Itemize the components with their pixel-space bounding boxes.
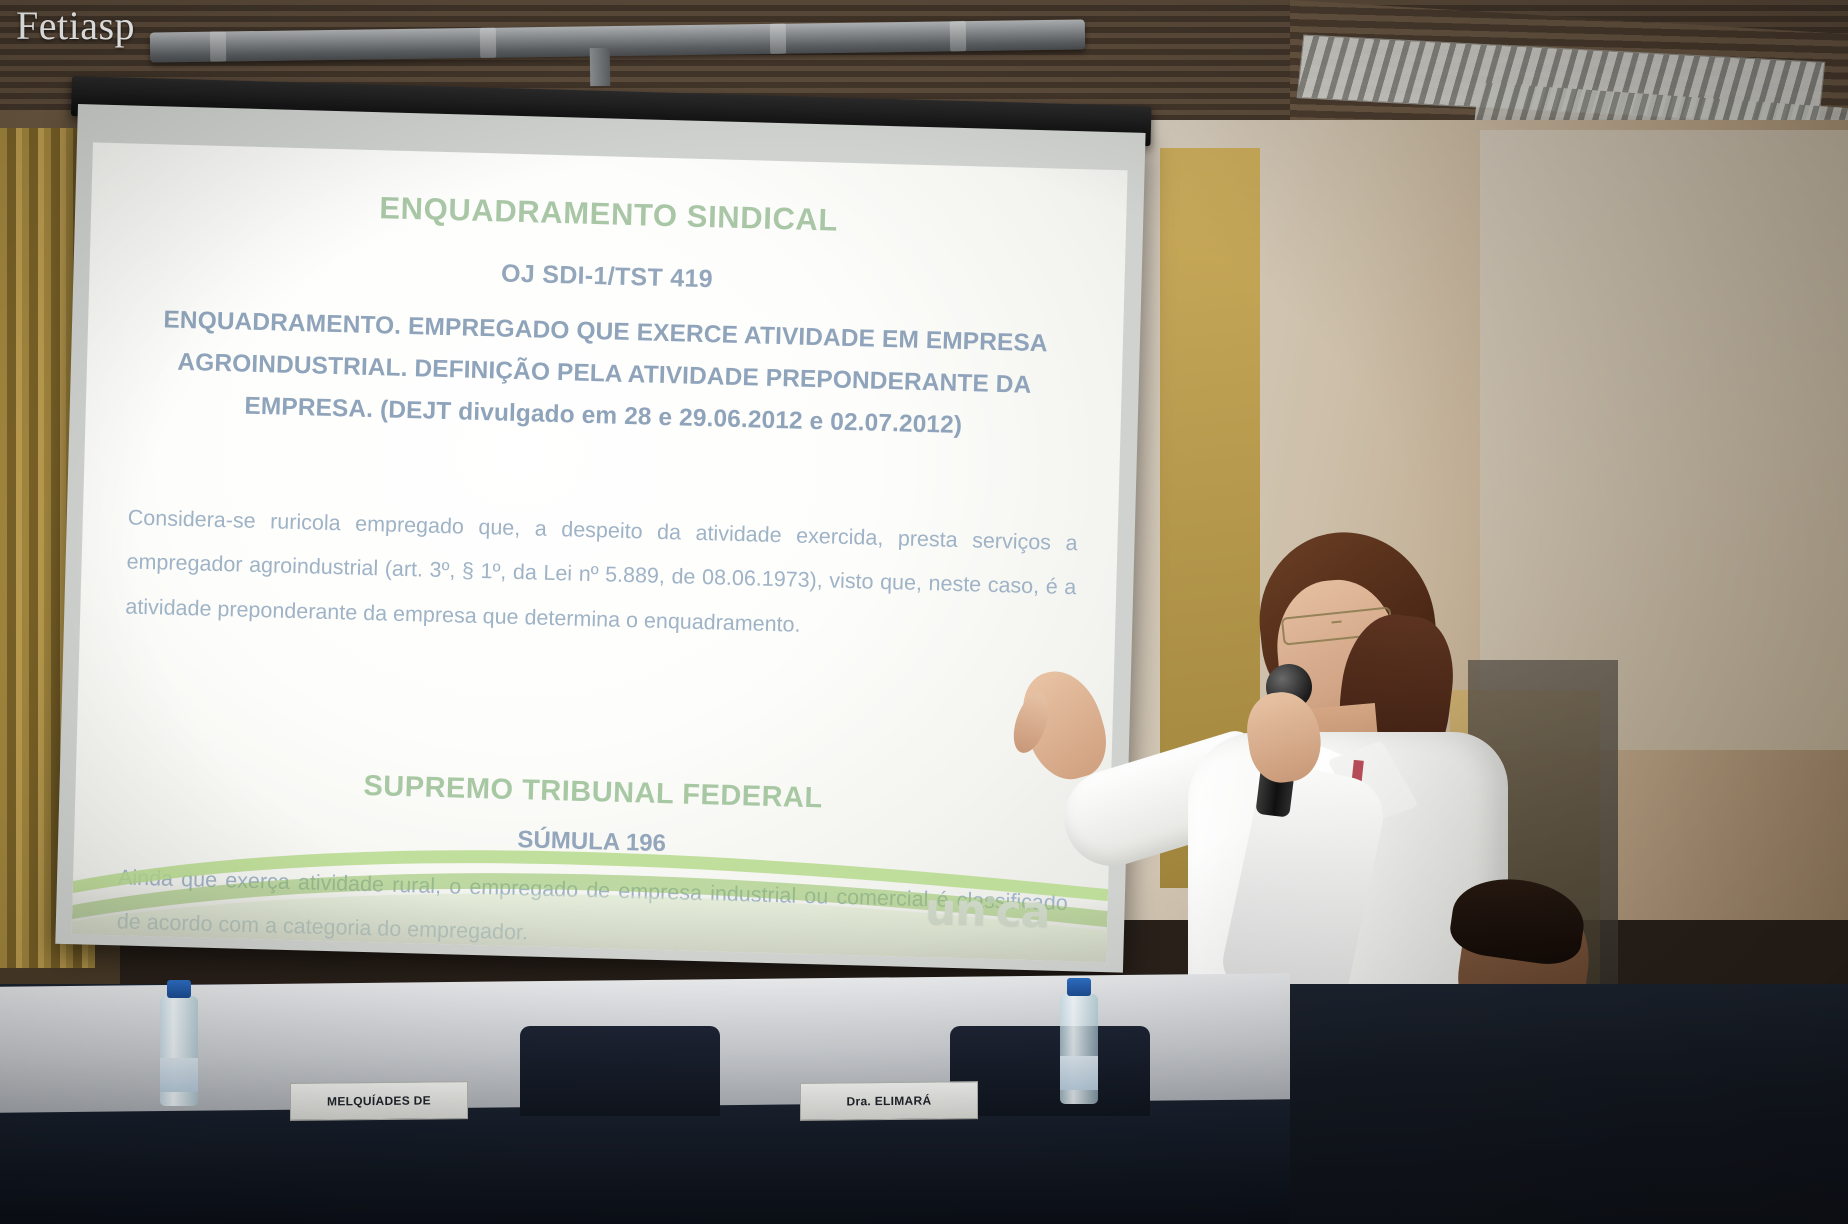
projection-screen: ENQUADRAMENTO SINDICAL OJ SDI-1/TST 419 …: [55, 104, 1145, 973]
wall-right-far: [1480, 130, 1848, 750]
slide-heading-block: ENQUADRAMENTO. EMPREGADO QUE EXERCE ATIV…: [125, 298, 1083, 450]
pipe-drop-connector: [590, 48, 611, 86]
conference-photo: ENQUADRAMENTO SINDICAL OJ SDI-1/TST 419 …: [0, 0, 1848, 1224]
bottle-cap-icon: [167, 980, 191, 998]
bottle-label: [160, 1058, 198, 1092]
slide-paragraph-1: Considera-se ruricola empregado que, a d…: [125, 496, 1078, 654]
bottle-cap-icon-right: [1067, 978, 1091, 996]
projected-slide-surface: ENQUADRAMENTO SINDICAL OJ SDI-1/TST 419 …: [72, 142, 1128, 962]
chair-right: [950, 1026, 1150, 1116]
bottle-label-right: [1060, 1056, 1098, 1090]
slide-subtitle-oj: OJ SDI-1/TST 419: [89, 248, 1124, 305]
water-bottle-right: [1060, 994, 1098, 1104]
nameplate-right: Dra. ELIMARÁ: [800, 1081, 978, 1121]
chair-left: [520, 1026, 720, 1116]
nameplate-left: MELQUÍADES DE: [290, 1081, 468, 1121]
slide-title: ENQUADRAMENTO SINDICAL: [91, 182, 1127, 246]
head-table-area: MELQUÍADES DE Dra. ELIMARÁ: [0, 984, 1848, 1224]
watermark-text: Fetiasp: [16, 2, 135, 49]
water-bottle-left: [160, 996, 198, 1106]
presentation-slide: ENQUADRAMENTO SINDICAL OJ SDI-1/TST 419 …: [72, 142, 1128, 962]
